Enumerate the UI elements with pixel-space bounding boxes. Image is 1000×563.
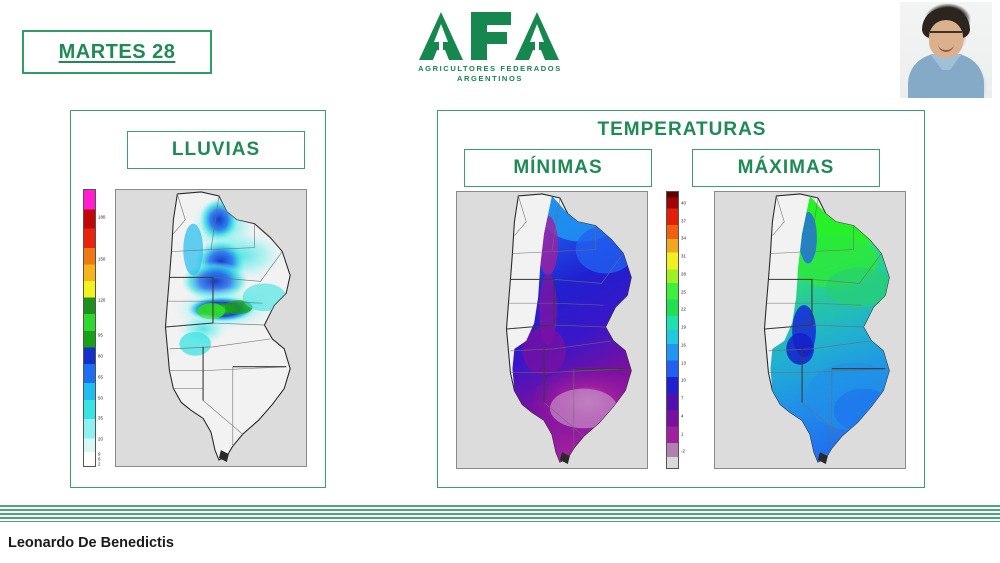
rainfall-panel: LLUVIAS 180150120958065503520962	[70, 110, 326, 488]
date-badge-label: MARTES 28	[59, 41, 176, 64]
min-temperature-map-svg	[457, 192, 647, 468]
footer-author-name: Leonardo De Benedictis	[8, 535, 174, 551]
afa-logo-mark	[415, 8, 565, 64]
slide-footer: Leonardo De Benedictis	[0, 499, 1000, 563]
temperature-tick: -2	[681, 449, 685, 454]
max-temp-title-label: MÁXIMAS	[738, 157, 835, 179]
temperature-tick: 28	[681, 271, 686, 276]
presenter-webcam[interactable]	[900, 2, 992, 98]
temperature-tick: 1	[681, 431, 683, 436]
rainfall-colorbar-gradient	[83, 189, 96, 467]
argentina-max-temperature-map[interactable]	[714, 191, 906, 469]
temperature-tick: 25	[681, 289, 686, 294]
glasses-icon	[930, 31, 962, 41]
temperature-tick: 31	[681, 254, 686, 259]
footer-rule-lines	[0, 505, 1000, 522]
rainfall-tick: 95	[98, 332, 103, 337]
rainfall-tick: 120	[98, 298, 105, 303]
argentina-min-temperature-map[interactable]	[456, 191, 648, 469]
temperature-colorbar-gradient	[666, 191, 679, 469]
rainfall-figure: 180150120958065503520962	[83, 189, 307, 467]
rainfall-tick: 150	[98, 256, 105, 261]
rainfall-map-svg	[116, 190, 306, 466]
rainfall-title-box: LLUVIAS	[127, 131, 305, 169]
min-temperature-figure	[456, 191, 648, 469]
temperature-colorbar-figure: 4037343128252219161310741-2	[666, 191, 698, 469]
min-temp-title-label: MÍNIMAS	[513, 157, 602, 179]
rainfall-tick: 2	[98, 462, 100, 467]
temperature-colorbar: 4037343128252219161310741-2	[666, 191, 698, 469]
date-badge: MARTES 28	[22, 30, 212, 74]
temperature-tick: 13	[681, 360, 686, 365]
temperature-colorbar-ticks: 4037343128252219161310741-2	[679, 191, 698, 469]
temperature-tick: 4	[681, 413, 683, 418]
temperature-tick: 16	[681, 342, 686, 347]
max-temp-title-box: MÁXIMAS	[692, 149, 880, 187]
temperature-tick: 37	[681, 218, 686, 223]
rainfall-tick: 35	[98, 416, 103, 421]
rainfall-tick: 6	[98, 456, 100, 461]
temperature-tick: 7	[681, 396, 683, 401]
afa-logo: AGRICULTORES FEDERADOS ARGENTINOS	[390, 8, 590, 96]
temperature-tick: 19	[681, 325, 686, 330]
temperature-tick: 40	[681, 200, 686, 205]
temperature-tick: 22	[681, 307, 686, 312]
max-temperature-map-svg	[715, 192, 905, 468]
rainfall-tick: 65	[98, 374, 103, 379]
rainfall-tick: 180	[98, 214, 105, 219]
slide-header: MARTES 28 AGRICULTORES FEDERADOS ARGENTI…	[0, 0, 1000, 104]
afa-logo-subtitle-line1: AGRICULTORES FEDERADOS	[418, 64, 562, 74]
temperature-tick: 34	[681, 236, 686, 241]
rainfall-tick: 50	[98, 395, 103, 400]
afa-logo-subtitle-line2: ARGENTINOS	[457, 74, 523, 84]
rainfall-colorbar-ticks: 180150120958065503520962	[96, 189, 115, 467]
rainfall-colorbar: 180150120958065503520962	[83, 189, 115, 467]
max-temperature-figure	[714, 191, 906, 469]
rainfall-title-label: LLUVIAS	[172, 139, 260, 161]
temperature-panel: TEMPERATURAS MÍNIMAS MÁXIMAS	[437, 110, 925, 488]
min-temp-title-box: MÍNIMAS	[464, 149, 652, 187]
temperature-group-title: TEMPERATURAS	[438, 119, 926, 141]
rainfall-tick: 20	[98, 437, 103, 442]
rainfall-tick: 80	[98, 353, 103, 358]
argentina-rainfall-map[interactable]	[115, 189, 307, 467]
temperature-tick: 10	[681, 378, 686, 383]
